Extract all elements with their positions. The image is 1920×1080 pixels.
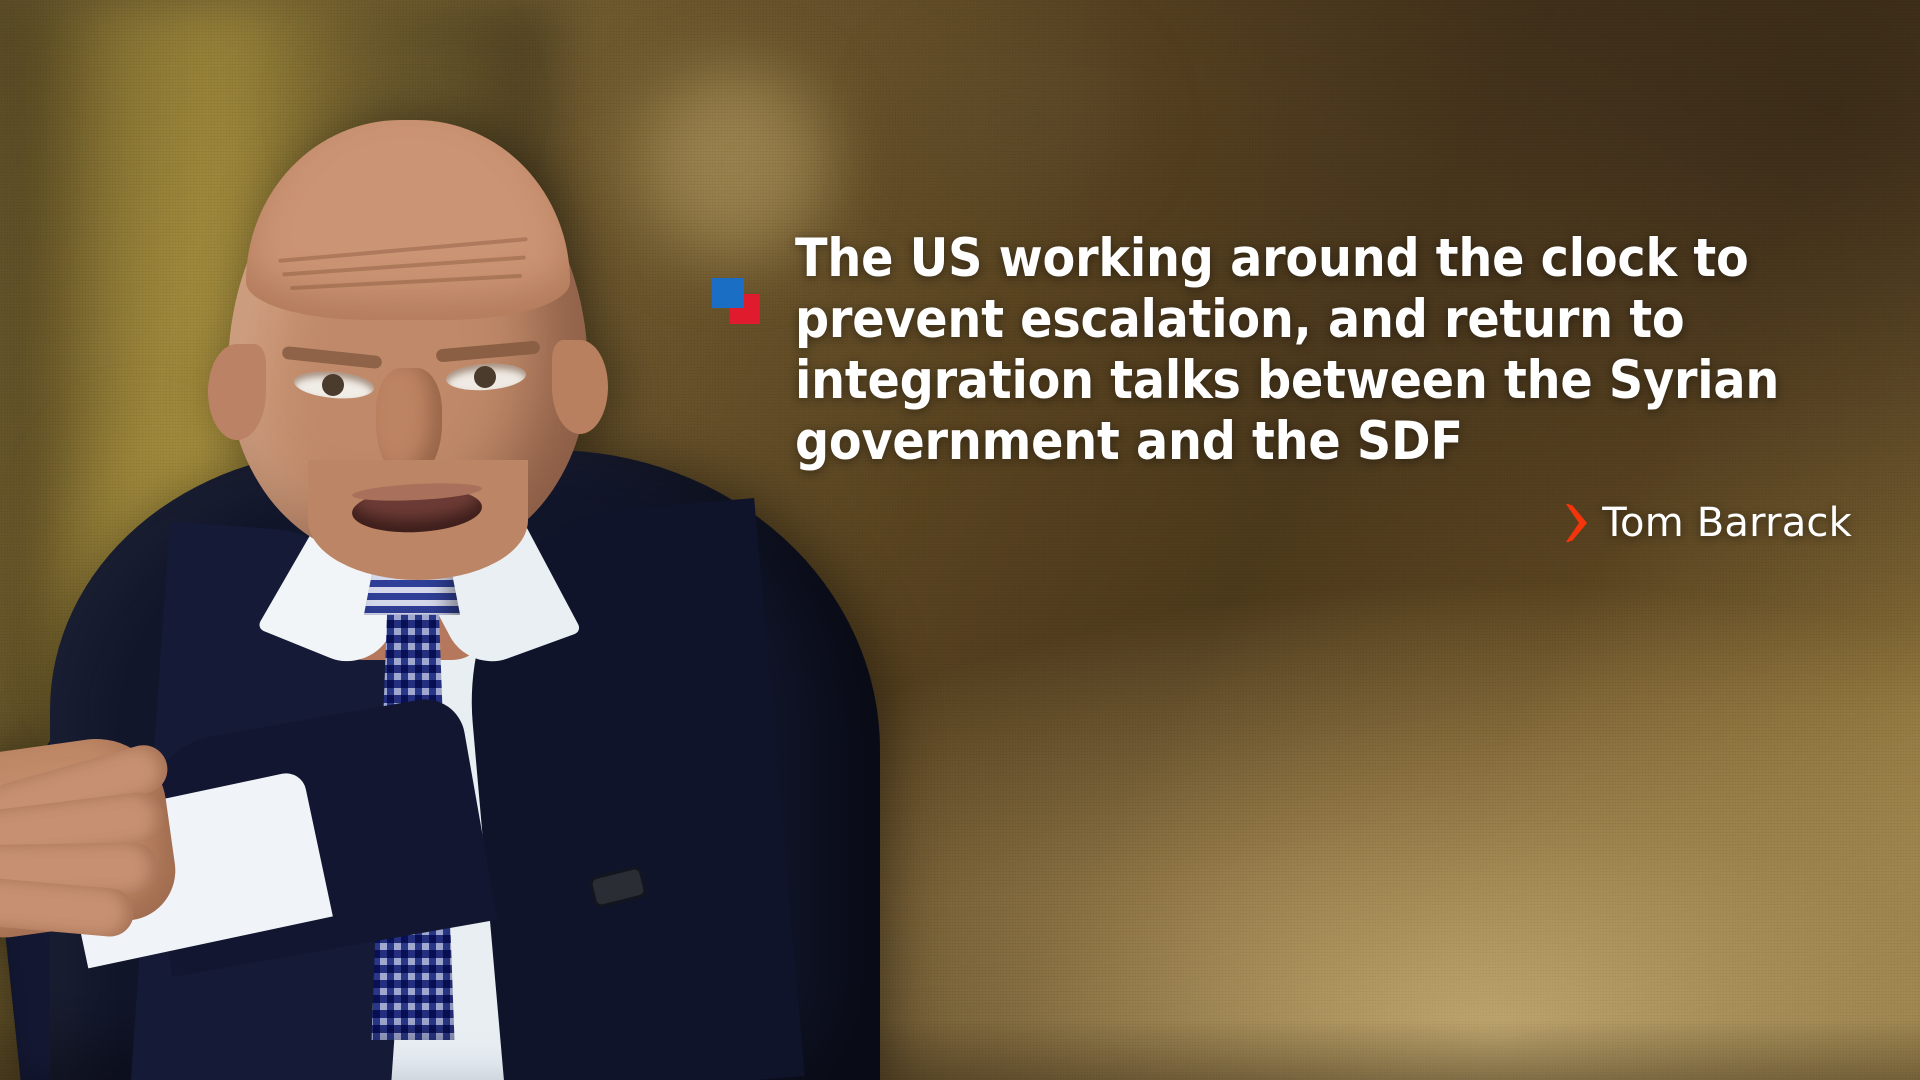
subject-hand — [0, 640, 230, 930]
subject-ear — [208, 344, 266, 440]
subject-ear — [552, 340, 608, 434]
quote-text: The US working around the clock to preve… — [795, 228, 1852, 472]
chevron-right-icon — [1566, 501, 1588, 545]
quote-card: The US working around the clock to preve… — [0, 0, 1920, 1080]
attribution-name: Tom Barrack — [1602, 500, 1852, 546]
subject-crown — [246, 120, 570, 320]
quote-block: The US working around the clock to preve… — [712, 228, 1852, 472]
subject-pupil — [322, 374, 344, 396]
subject-pupil — [474, 366, 496, 388]
attribution: Tom Barrack — [712, 500, 1852, 546]
news-logo-icon — [712, 278, 764, 324]
